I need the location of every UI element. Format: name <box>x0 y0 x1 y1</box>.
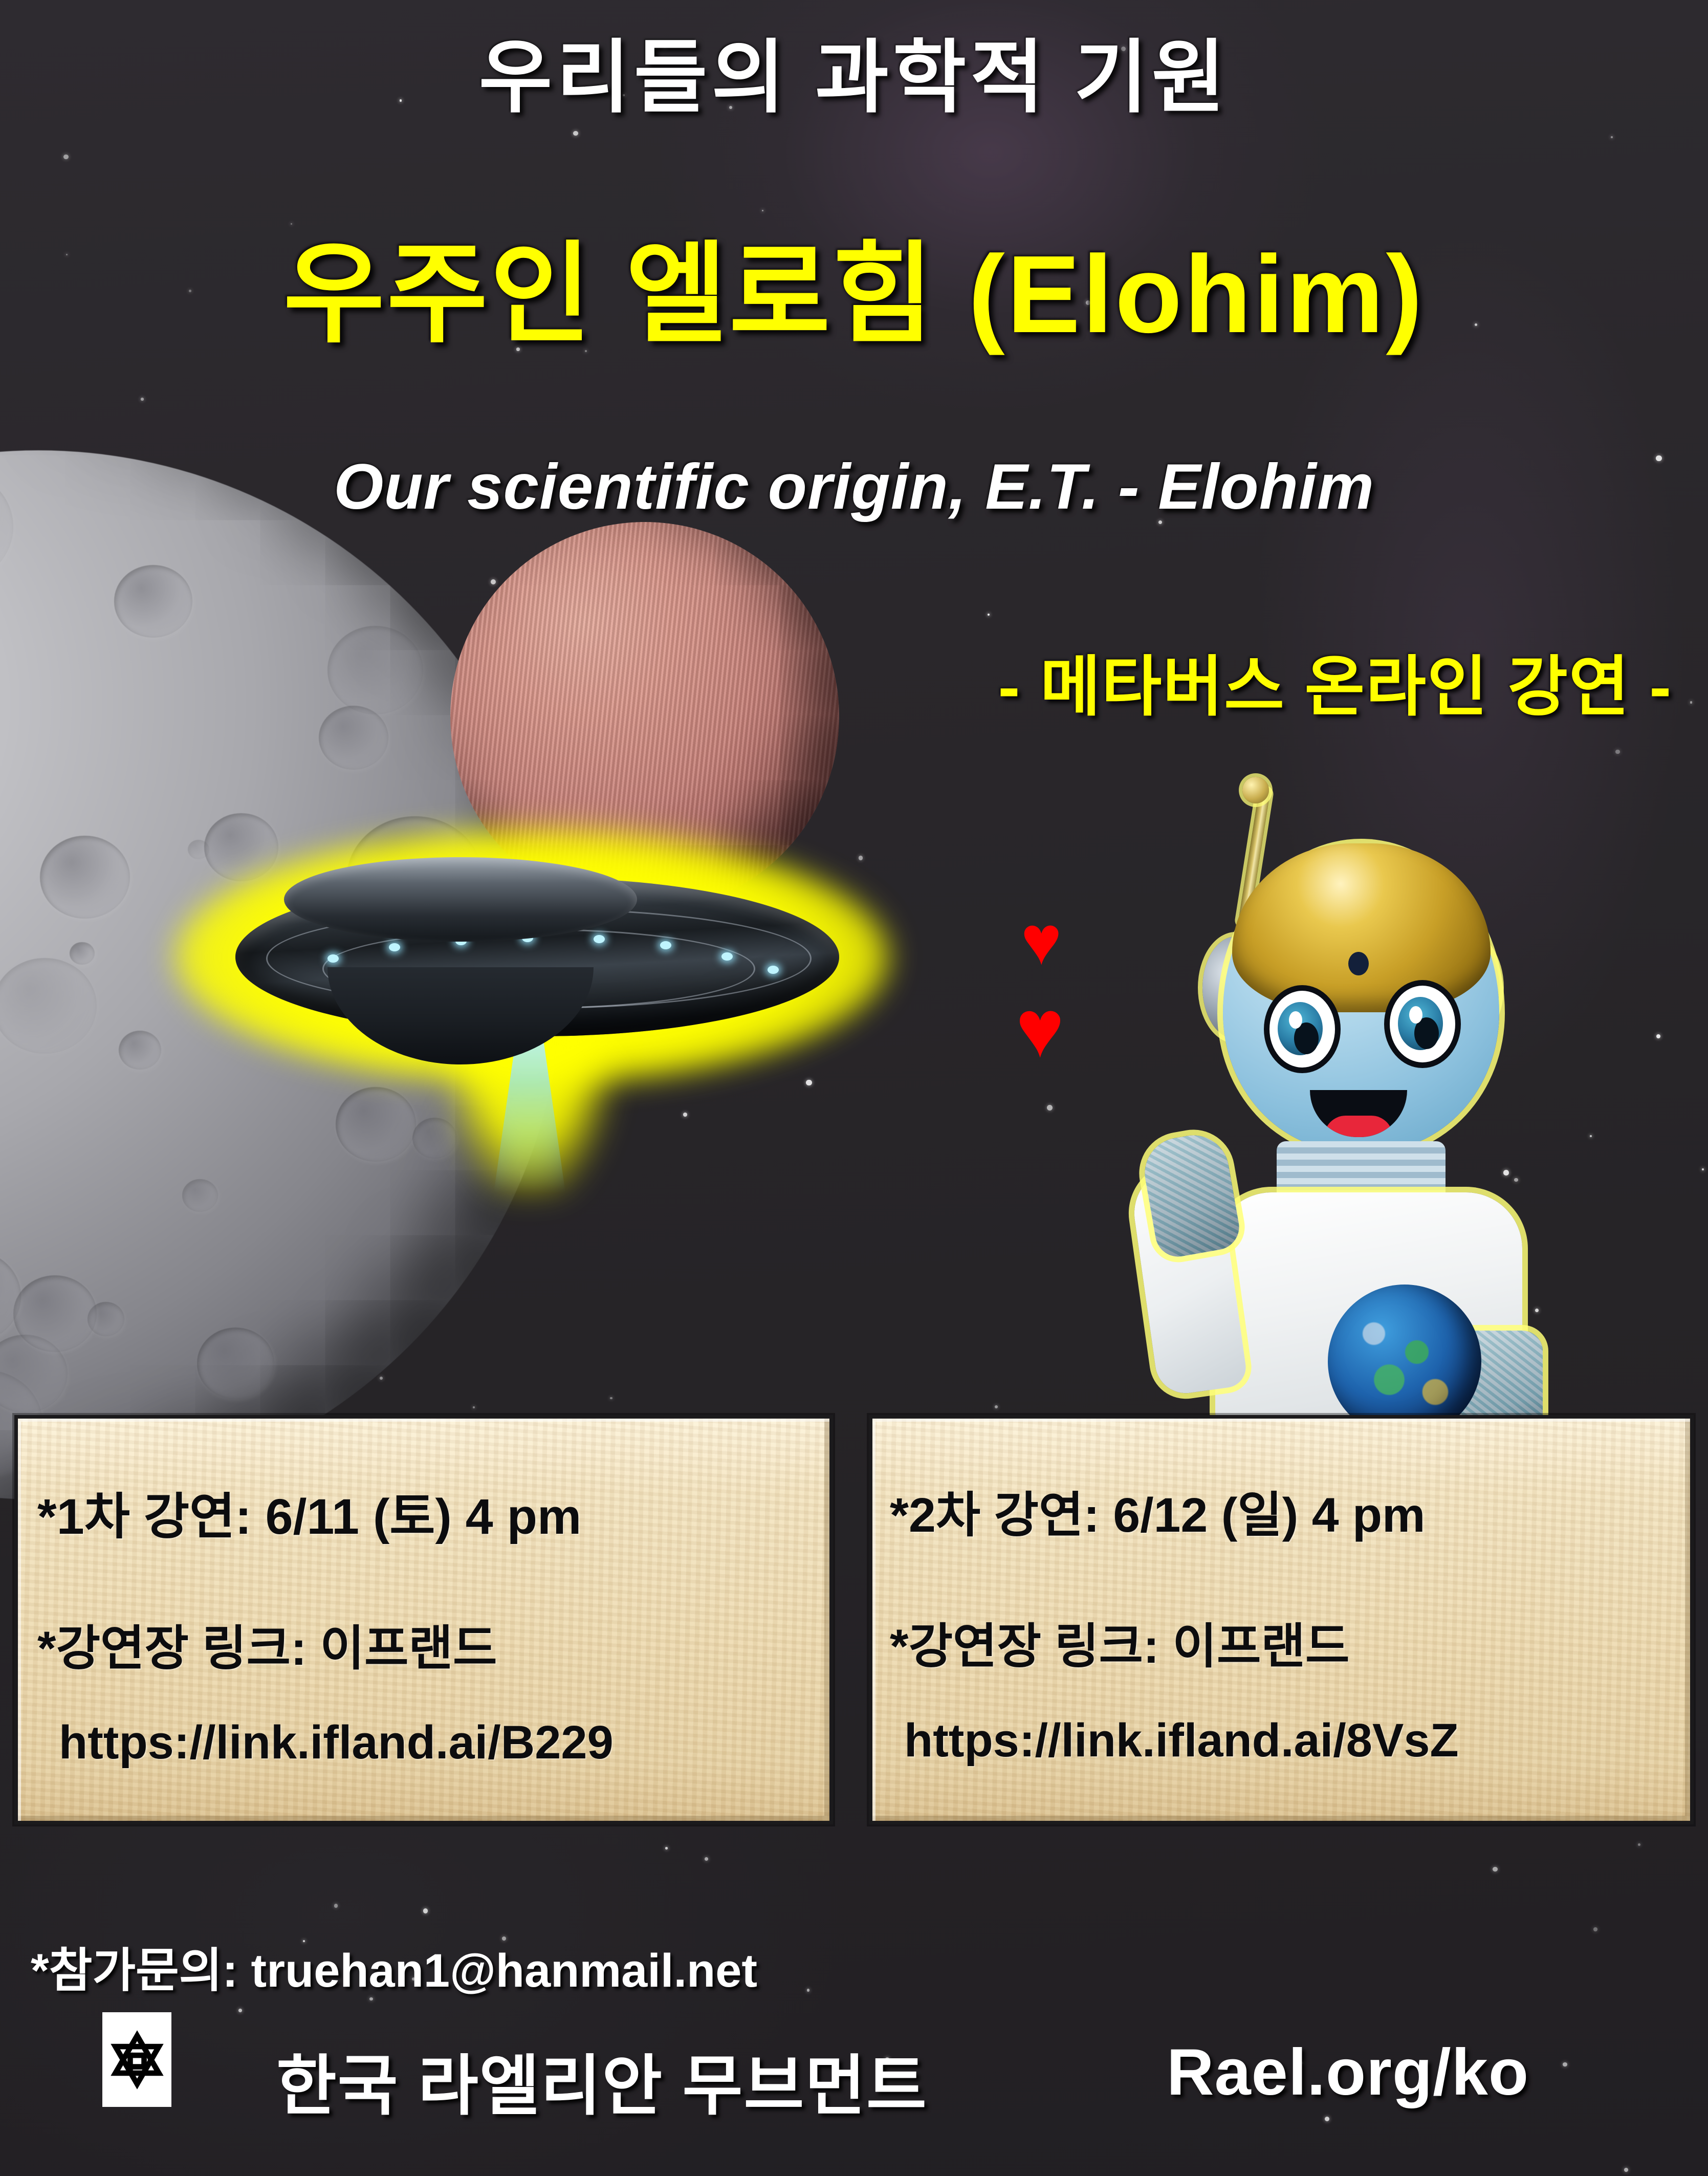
star <box>1615 750 1620 754</box>
moon-crater <box>327 626 423 714</box>
star <box>1325 2117 1329 2121</box>
ufo-light <box>768 966 779 974</box>
star <box>1047 1105 1053 1111</box>
event-format-subtitle: - 메타버스 온라인 강연 - <box>998 634 1672 728</box>
page-title-english: Our scientific origin, E.T. - Elohim <box>0 450 1708 524</box>
star <box>988 614 990 616</box>
poster-root: ♥ ♥ 우리들의 과학적 기원 <box>0 0 1708 2176</box>
session-2-datetime: *2차 강연: 6/12 (일) 4 pm <box>890 1476 1690 1546</box>
session-2-link[interactable]: https://link.ifland.ai/8VsZ <box>904 1714 1690 1768</box>
mascot-tongue <box>1324 1116 1393 1137</box>
contact-email-line[interactable]: *참가문의: truehan1@hanmail.net <box>31 1932 757 2000</box>
star <box>423 1908 428 1913</box>
star <box>573 131 578 136</box>
star <box>238 2009 242 2012</box>
page-title-korean-sub: 우리들의 과학적 기원 <box>0 12 1708 128</box>
mascot-eye-gleam <box>1409 1006 1422 1024</box>
moon-crater <box>0 958 97 1053</box>
mascot-eye-left <box>1264 985 1341 1073</box>
star <box>665 1847 668 1849</box>
mascot-eye-gleam <box>1289 1011 1302 1029</box>
moon-crater <box>197 1328 275 1399</box>
mascot-antenna-tip <box>1242 777 1269 803</box>
session-1-card: *1차 강연: 6/11 (토) 4 pm *강연장 링크: 이프랜드 http… <box>14 1415 833 1824</box>
alien-mascot-image <box>1095 783 1545 1423</box>
star <box>995 1405 998 1408</box>
star <box>1593 1927 1597 1931</box>
ufo-light <box>327 954 339 963</box>
star <box>380 1377 383 1380</box>
raelian-symbol-icon <box>102 2012 171 2107</box>
moon-crater <box>119 1031 161 1070</box>
star <box>63 155 68 159</box>
star <box>1690 701 1692 703</box>
ufo-light <box>594 935 605 943</box>
session-1-link[interactable]: https://link.ifland.ai/B229 <box>59 1716 829 1770</box>
session-2-venue: *강연장 링크: 이프랜드 <box>890 1607 1690 1677</box>
mascot-gold-cap <box>1232 843 1491 1012</box>
organization-name: 한국 라엘리안 무브먼트 <box>276 2033 928 2127</box>
star <box>1493 1867 1497 1872</box>
mascot-eye-right <box>1384 980 1461 1068</box>
ufo-light <box>660 941 671 949</box>
website-url[interactable]: Rael.org/ko <box>1167 2035 1529 2110</box>
moon-crater <box>13 1275 97 1352</box>
star <box>491 579 496 584</box>
ufo-image <box>159 798 906 1187</box>
star <box>1563 2062 1567 2067</box>
session-1-venue: *강연장 링크: 이프랜드 <box>37 1609 829 1679</box>
ufo-light <box>721 952 733 961</box>
star <box>705 1857 708 1861</box>
moon-crater <box>70 942 94 965</box>
ufo-dome <box>284 857 637 942</box>
star <box>334 1904 338 1907</box>
session-2-card: *2차 강연: 6/12 (일) 4 pm *강연장 링크: 이프랜드 http… <box>869 1415 1694 1824</box>
star <box>141 398 143 400</box>
star <box>473 1406 475 1408</box>
mascot-forehead-dot <box>1348 952 1369 975</box>
page-title-korean-main: 우주인 엘로힘 (Elohim) <box>0 205 1708 364</box>
session-1-datetime: *1차 강연: 6/11 (토) 4 pm <box>37 1476 829 1548</box>
star <box>1624 2168 1628 2172</box>
star <box>1638 1843 1640 1846</box>
moon-crater <box>40 836 130 919</box>
moon-crater <box>319 706 388 770</box>
star <box>1656 1034 1660 1038</box>
star <box>1611 136 1613 138</box>
heart-icon: ♥ <box>1021 906 1062 975</box>
ufo-light <box>389 943 400 951</box>
mascot-iris <box>1398 997 1443 1050</box>
star <box>1702 1168 1704 1170</box>
heart-icon: ♥ <box>1016 988 1064 1070</box>
moon-crater <box>114 565 192 637</box>
star <box>1590 1135 1592 1137</box>
star <box>807 1989 809 1991</box>
mascot-iris <box>1278 1002 1323 1055</box>
star <box>610 1397 612 1399</box>
